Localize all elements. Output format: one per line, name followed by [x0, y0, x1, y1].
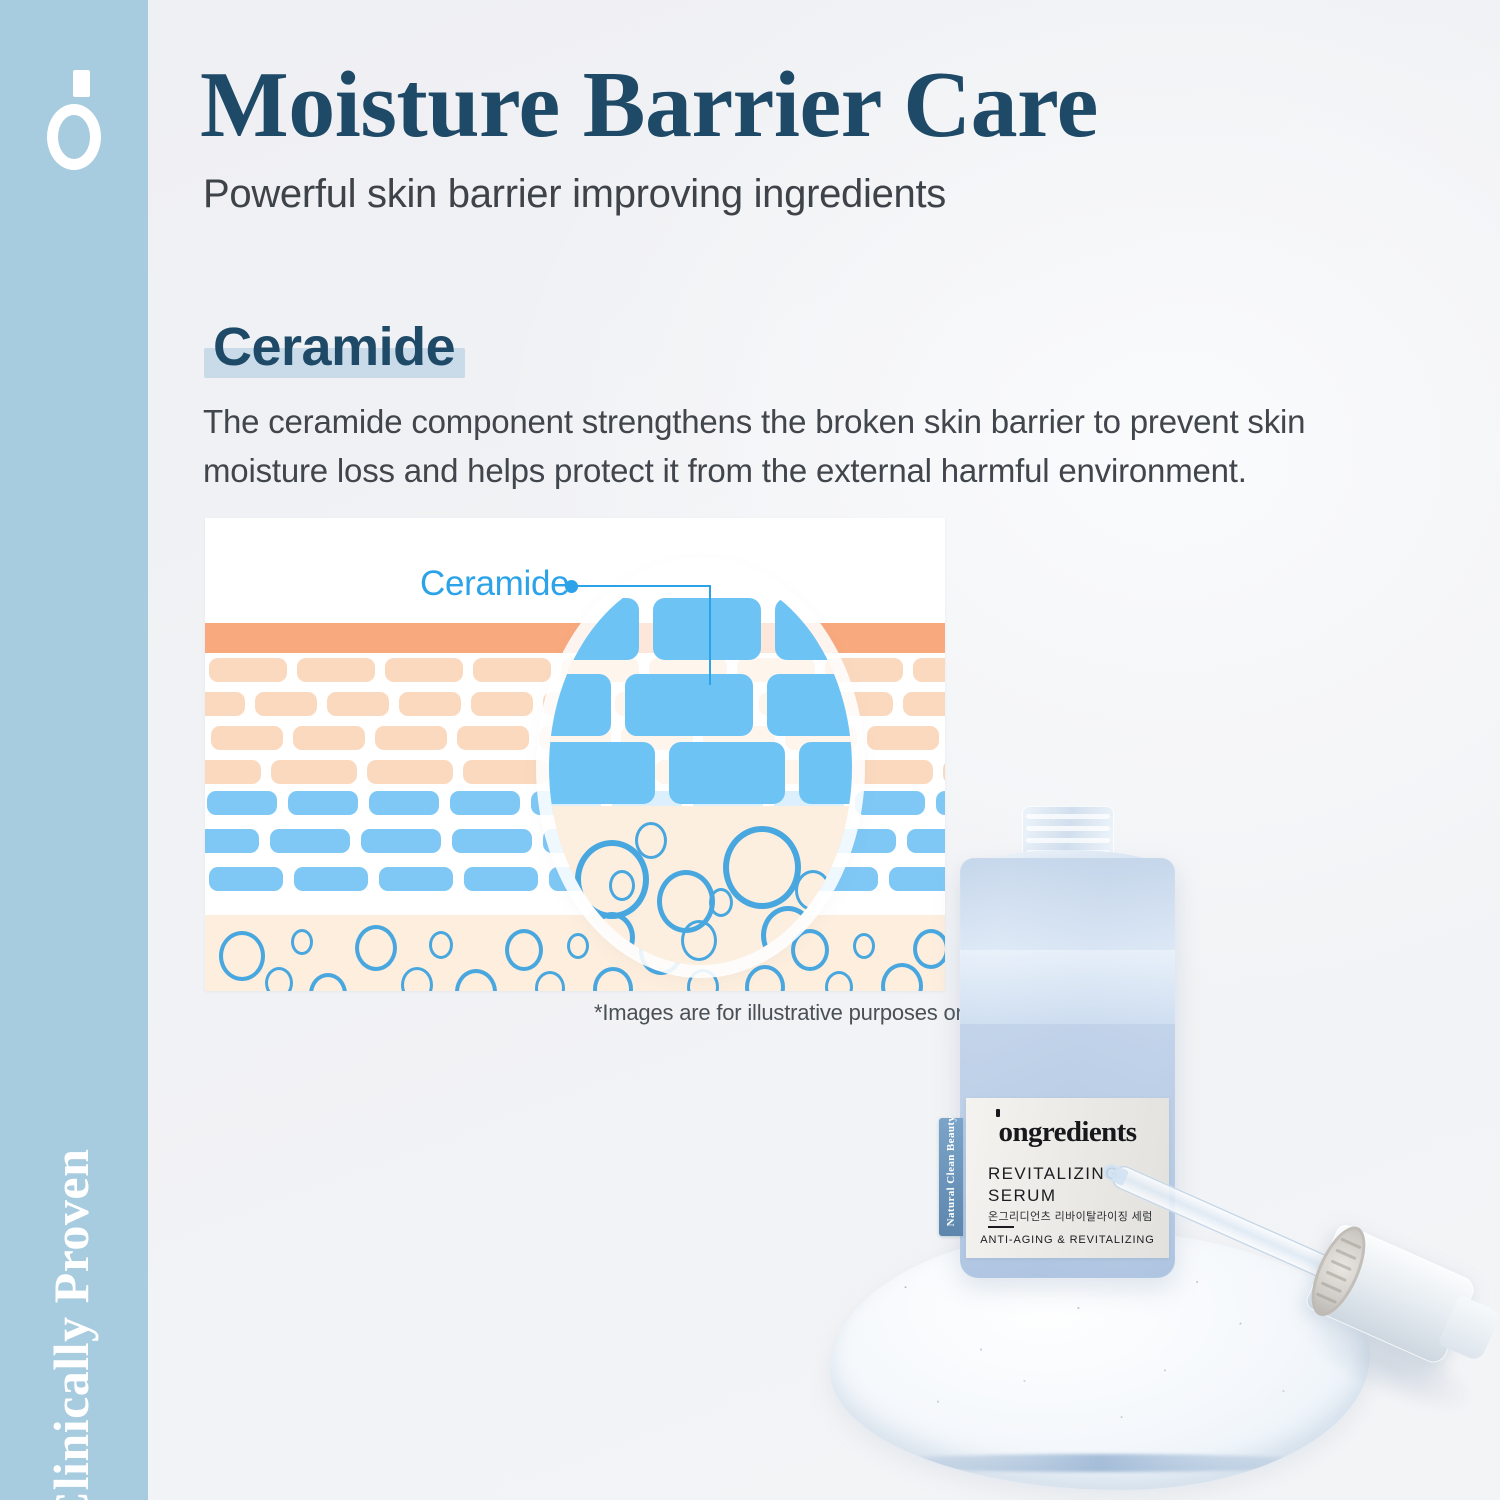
logo-o-ring: [47, 104, 101, 170]
brick: [375, 726, 447, 750]
magnified-brick: [549, 742, 655, 804]
magnified-brick: [669, 742, 785, 804]
page-title: Moisture Barrier Care: [200, 58, 1098, 152]
grip-ridge: [1330, 1259, 1351, 1271]
bottle-side-tag: Natural Clean Beauty: [939, 1118, 963, 1236]
moisture-bubble: [687, 969, 719, 991]
magnified-bubble: [609, 870, 635, 901]
brick: [464, 867, 538, 891]
grip-ridge: [1326, 1270, 1347, 1282]
grip-ridge: [1321, 1281, 1342, 1293]
brick: [207, 791, 277, 815]
left-accent-sidebar: Clinically Proven: [0, 0, 148, 1500]
magnified-bubble: [681, 920, 717, 961]
logo-diacritic-mark: [73, 70, 90, 97]
ingredient-name: Ceramide: [213, 316, 455, 378]
brick: [255, 692, 317, 716]
moisture-bubble: [355, 925, 397, 971]
magnified-bubble: [709, 888, 733, 917]
brick: [367, 760, 453, 784]
brick: [211, 726, 283, 750]
label-divider: [988, 1226, 1014, 1228]
brick: [327, 692, 389, 716]
brick: [379, 867, 453, 891]
brick: [369, 791, 439, 815]
moisture-bubble: [265, 967, 293, 991]
gel-rim-highlight: [862, 1454, 1337, 1472]
ingredient-heading-wrap: Ceramide: [213, 316, 455, 378]
grip-ridge: [1335, 1248, 1356, 1260]
brick: [288, 791, 358, 815]
serum-liquid-middle: [960, 950, 1175, 1024]
magnified-brick: [549, 598, 639, 660]
moisture-bubble: [535, 971, 565, 991]
brick: [209, 867, 283, 891]
grip-ridge: [1316, 1292, 1337, 1304]
moisture-bubble: [593, 967, 633, 991]
brick: [452, 829, 532, 853]
magnified-brick: [625, 674, 753, 736]
bottle-thread: [1026, 838, 1110, 843]
brick: [361, 829, 441, 853]
magnified-bubble: [635, 822, 667, 859]
brick: [205, 760, 261, 784]
callout-line-vertical: [709, 585, 711, 685]
moisture-bubble: [429, 931, 453, 959]
magnified-brick: [767, 674, 852, 736]
brick: [205, 829, 259, 853]
brick: [209, 658, 287, 682]
callout-line-horizontal: [577, 585, 711, 587]
grip-ridge: [1340, 1238, 1361, 1250]
magnified-brick: [653, 598, 761, 660]
brick: [457, 726, 529, 750]
magnified-brick: [775, 598, 852, 660]
brick: [450, 791, 520, 815]
bottle-thread: [1026, 826, 1110, 831]
moisture-bubble: [309, 973, 347, 991]
brick: [294, 867, 368, 891]
brick: [867, 726, 939, 750]
brick: [471, 692, 533, 716]
brick: [399, 692, 461, 716]
brand-logo-icon: [0, 62, 148, 172]
callout-label: Ceramide: [420, 564, 569, 604]
brick: [205, 692, 245, 716]
magnified-bubble: [589, 912, 635, 963]
serum-liquid-upper: [960, 858, 1175, 950]
brick: [473, 658, 551, 682]
infographic-page: Clinically Proven Moisture Barrier Care …: [0, 0, 1500, 1500]
brick: [903, 692, 945, 716]
side-tag-label: Natural Clean Beauty: [945, 1112, 957, 1230]
moisture-bubble: [745, 965, 785, 991]
vertical-claim-label: Clinically Proven: [36, 1007, 106, 1500]
brick: [271, 760, 357, 784]
brand-diacritic-icon: [996, 1109, 1000, 1117]
moisture-bubble: [291, 929, 313, 955]
bottle-thread: [1026, 814, 1110, 819]
magnified-brick: [549, 674, 611, 736]
brick: [293, 726, 365, 750]
moisture-bubble: [219, 931, 265, 981]
pipette-tube: [1108, 1162, 1342, 1284]
ingredient-description: The ceramide component strengthens the b…: [203, 398, 1353, 495]
brick: [913, 658, 945, 682]
brick: [385, 658, 463, 682]
brick: [463, 760, 549, 784]
product-photo: Natural Clean Beauty ongredients REVITAL…: [780, 770, 1500, 1500]
page-subtitle: Powerful skin barrier improving ingredie…: [203, 172, 946, 217]
brick: [297, 658, 375, 682]
moisture-bubble: [505, 929, 543, 971]
moisture-bubble: [455, 969, 497, 991]
brick: [270, 829, 350, 853]
moisture-bubble: [401, 967, 433, 991]
product-name-line-2: SERUM: [988, 1186, 1056, 1206]
